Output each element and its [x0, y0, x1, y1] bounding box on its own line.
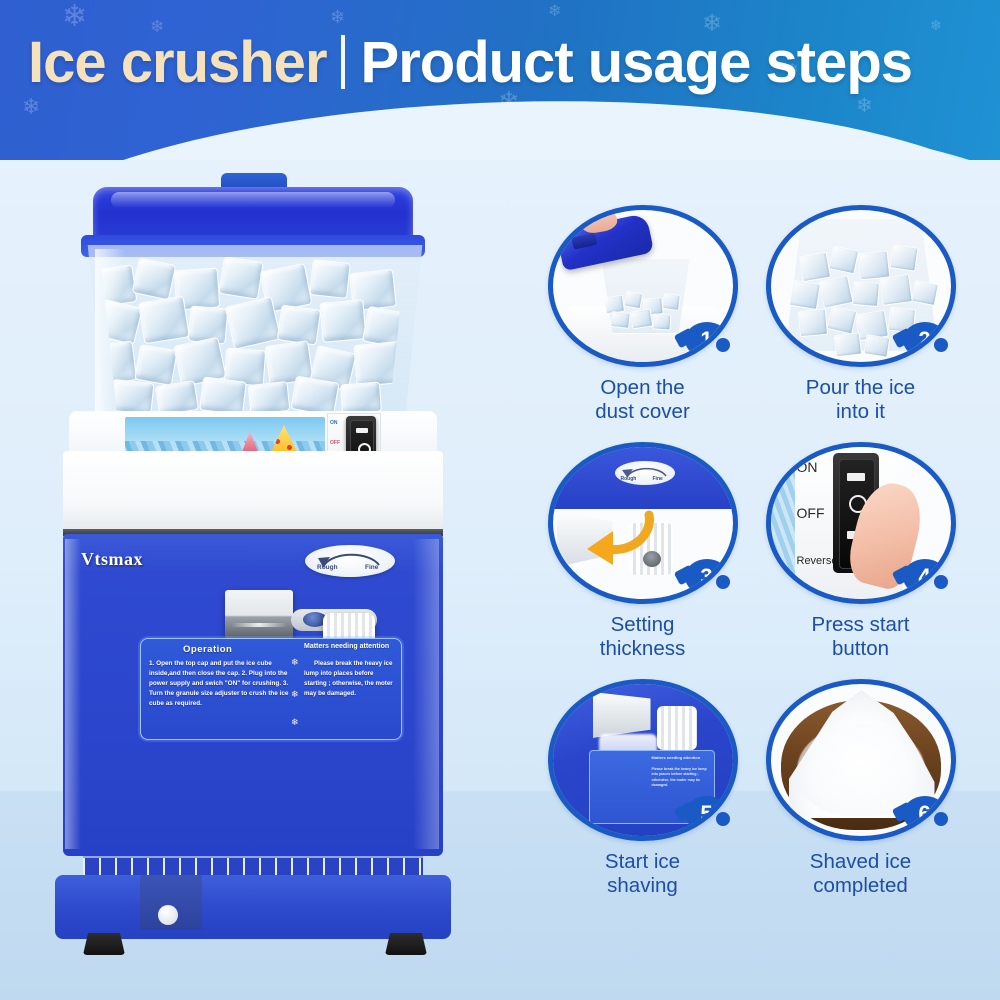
dial-arrow-icon	[305, 545, 395, 577]
step-1-image: 1	[548, 205, 738, 367]
hopper-glass-reflection	[95, 249, 125, 421]
step-5-label-text: Please break the heavy ice lump into pla…	[652, 767, 710, 789]
snowflake-icon: ❄	[291, 717, 299, 728]
step-6-label-line2: completed	[758, 874, 963, 898]
step-3-label: Setting thickness	[540, 613, 745, 661]
body-highlight-left	[65, 539, 81, 849]
machine-base	[55, 875, 451, 939]
step-4-label-reverse: Reverse	[797, 555, 838, 567]
step-item-3[interactable]: Rough Fine 3 Setting thickness	[540, 442, 745, 661]
step-5-image: Matters needing attention Please break t…	[548, 679, 738, 841]
plate-sticker-strip	[771, 447, 795, 599]
step-2-accent-dot	[934, 338, 948, 352]
ice-cubes-group	[87, 257, 419, 413]
step-2-image: 2	[766, 205, 956, 367]
step-5-label-line1: Start ice	[540, 850, 745, 874]
dial-label-fine: Fine	[365, 564, 378, 571]
step-3-dial: Rough Fine	[615, 461, 675, 485]
rubber-foot-left	[83, 933, 125, 955]
step-1-label: Open the dust cover	[540, 376, 745, 424]
ice-crusher-product-image: ON OFF Reverse Vtsmax Rough Fine	[55, 165, 475, 965]
step-2-label-line2: into it	[758, 400, 963, 424]
step-5-accent-dot	[716, 812, 730, 826]
step-item-1[interactable]: 1 Open the dust cover	[540, 205, 745, 424]
step-6-accent-dot	[934, 812, 948, 826]
step-5-knob	[657, 706, 697, 750]
operation-label-title: Operation	[183, 644, 232, 655]
rotation-arrow-icon	[583, 509, 657, 565]
step-5-label-line2: shaving	[540, 874, 745, 898]
switch-label-on: ON	[330, 420, 338, 426]
step-3-label-line1: Setting	[540, 613, 745, 637]
step-6-label: Shaved ice completed	[758, 850, 963, 898]
step-item-6[interactable]: 6 Shaved ice completed	[758, 679, 963, 898]
operation-instruction-label: Operation 1. Open the top cap and put th…	[140, 638, 402, 740]
step-3-label-line2: thickness	[540, 637, 745, 661]
brand-logo: Vtsmax	[81, 549, 143, 570]
step-item-4[interactable]: ON OFF Reverse 4 Press start button	[758, 442, 963, 661]
operation-label-steps: 1. Open the top cap and put the ice cube…	[149, 659, 294, 709]
page-title: Ice crusher Product usage steps	[28, 24, 988, 100]
infographic-page: ❄ ❄ ❄ ❄ ❄ ❄ ❄ ❄ ❄ ❄ Ice crusher Product …	[0, 0, 1000, 1000]
step-4-rocker-bar-top	[847, 473, 865, 481]
step-item-5[interactable]: Matters needing attention Please break t…	[540, 679, 745, 898]
body-highlight-right	[413, 539, 439, 849]
step-1-label-line1: Open the	[540, 376, 745, 400]
thickness-dial[interactable]: Rough Fine	[305, 545, 395, 577]
step-6-label-line1: Shaved ice	[758, 850, 963, 874]
title-divider	[341, 35, 345, 89]
step-3-dial-rough: Rough	[621, 476, 637, 482]
step-1-label-line2: dust cover	[540, 400, 745, 424]
step-4-image: ON OFF Reverse 4	[766, 442, 956, 604]
step-5-label-title: Matters needing attention	[652, 755, 710, 761]
switch-label-off: OFF	[330, 440, 340, 446]
operation-label-attention-title: Matters needing attention	[304, 643, 389, 650]
title-subtitle: Product usage steps	[361, 29, 912, 96]
step-4-label-on: ON	[797, 459, 818, 475]
rubber-foot-right	[385, 933, 427, 955]
step-4-label-off: OFF	[797, 505, 825, 521]
step-4-label: Press start button	[758, 613, 963, 661]
snowflake-icon: ❄	[291, 689, 299, 700]
step-item-2[interactable]: 2 Pour the ice into it	[758, 205, 963, 424]
step-6-image: 6	[766, 679, 956, 841]
step-4-accent-dot	[934, 575, 948, 589]
step-2-label: Pour the ice into it	[758, 376, 963, 424]
dial-label-rough: Rough	[317, 564, 338, 571]
page-header: ❄ ❄ ❄ ❄ ❄ ❄ ❄ ❄ ❄ ❄ Ice crusher Product …	[0, 0, 1000, 160]
usage-steps-grid: 1 Open the dust cover	[540, 205, 990, 925]
step-3-dial-fine: Fine	[653, 476, 663, 482]
step-5-label: Start ice shaving	[540, 850, 745, 898]
step-3-accent-dot	[716, 575, 730, 589]
rocker-bar-top	[356, 428, 368, 433]
operation-label-attention-text: Please break the heavy ice lump into pla…	[304, 659, 396, 699]
step-2-label-line1: Pour the ice	[758, 376, 963, 400]
step-3-image: Rough Fine 3	[548, 442, 738, 604]
machine-white-front-panel	[63, 451, 443, 529]
step-4-label-line2: button	[758, 637, 963, 661]
step-1-accent-dot	[716, 338, 730, 352]
base-drain-plug	[158, 905, 178, 925]
chute-highlight	[231, 623, 287, 627]
title-product-name: Ice crusher	[28, 29, 327, 96]
snowflake-icon: ❄	[291, 657, 299, 668]
step-4-label-line1: Press start	[758, 613, 963, 637]
